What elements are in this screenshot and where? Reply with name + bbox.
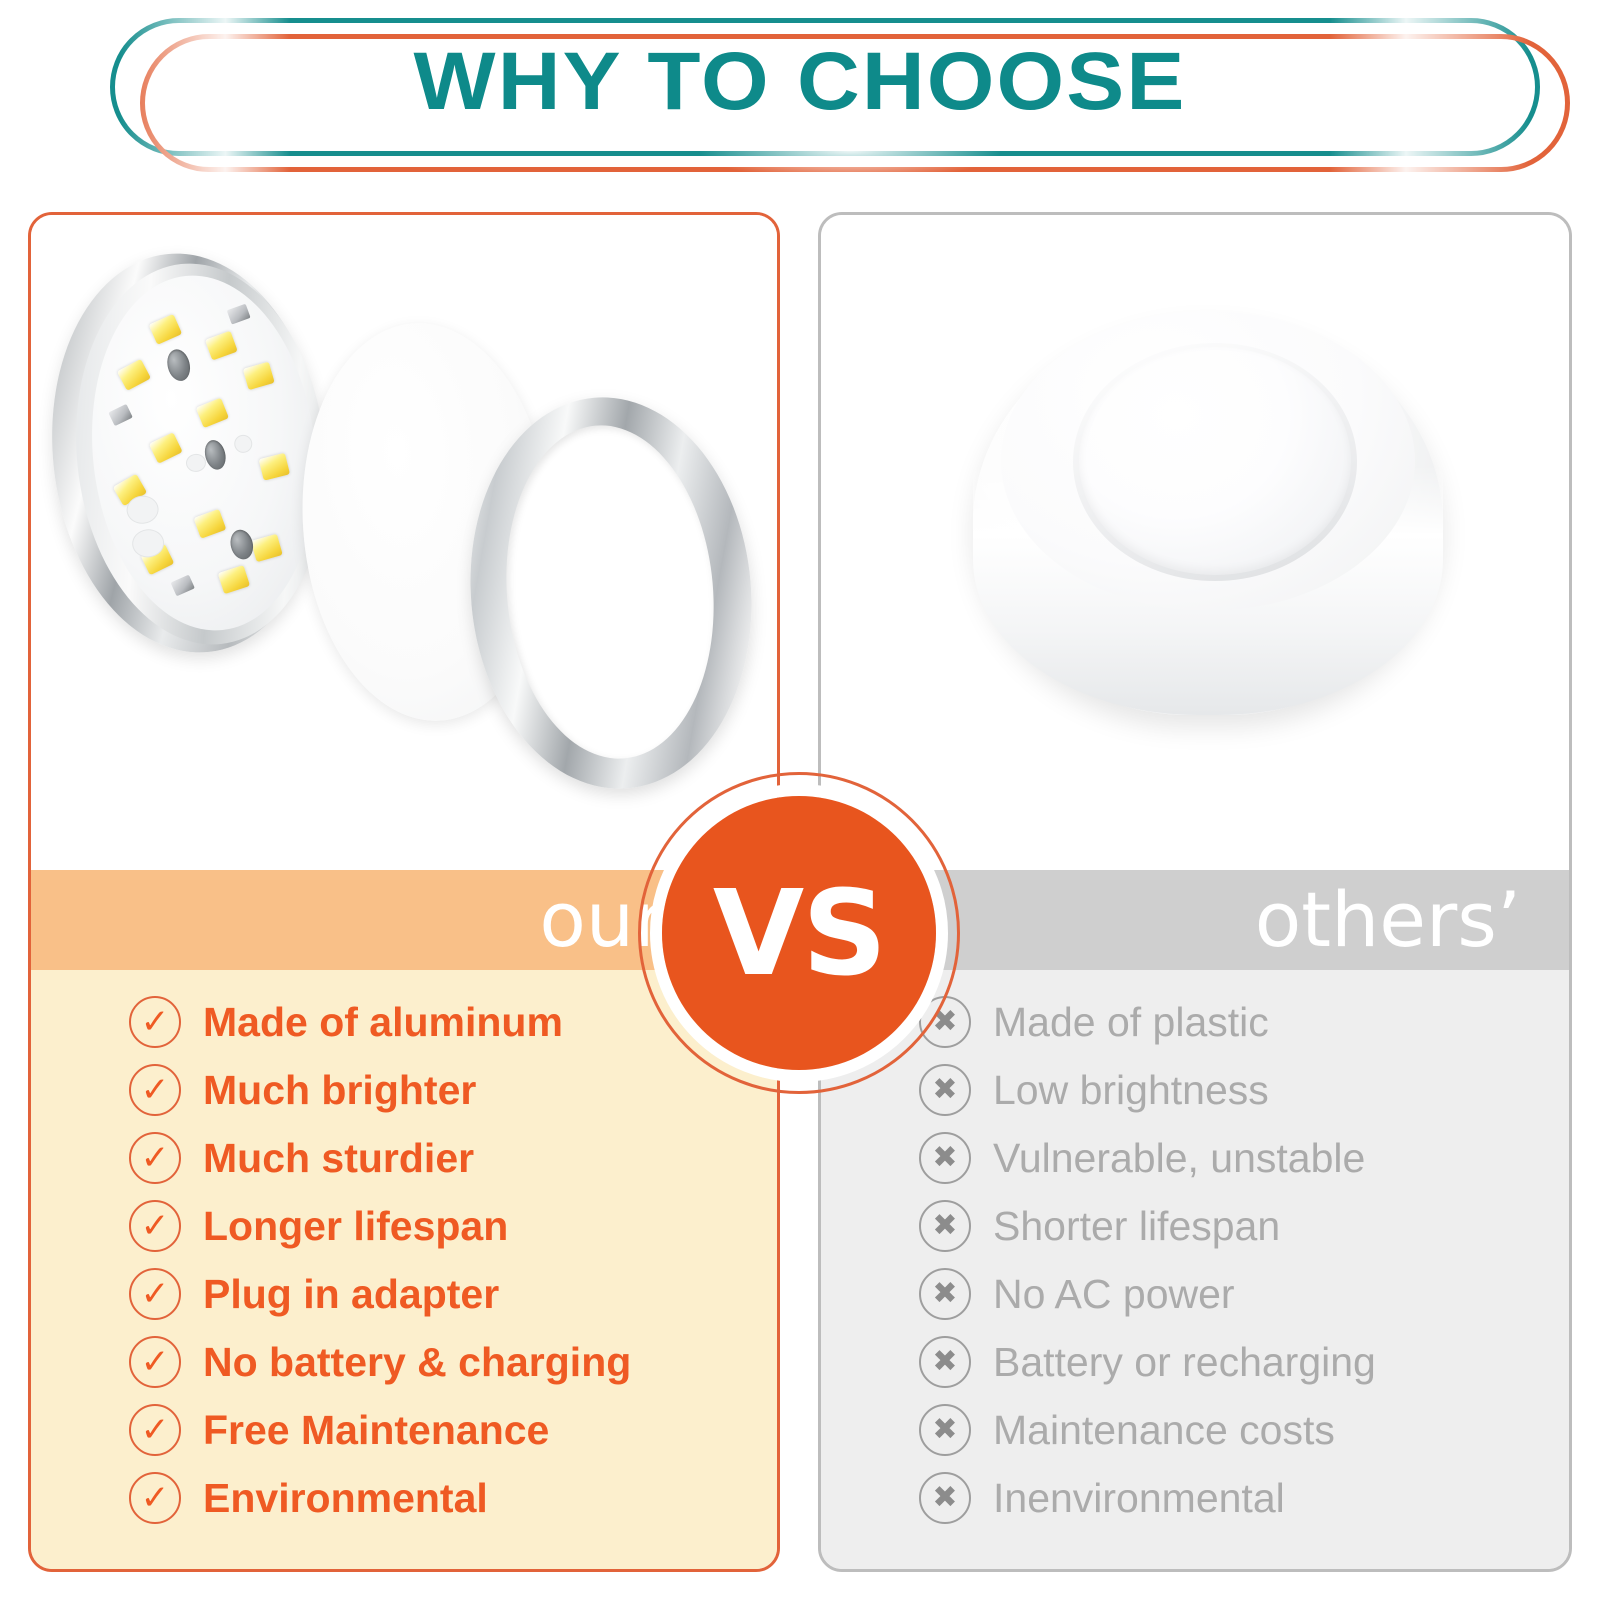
check-icon: ✓ [129, 1472, 181, 1524]
cross-icon: ✖ [919, 1472, 971, 1524]
mount-hole-icon [164, 347, 193, 383]
list-item: ✖ No AC power [919, 1260, 1569, 1328]
cross-icon: ✖ [919, 1200, 971, 1252]
led-chip-icon [117, 359, 151, 391]
list-item: ✓ Free Maintenance [129, 1396, 777, 1464]
feature-label: Made of aluminum [203, 999, 563, 1046]
feature-label: Maintenance costs [993, 1407, 1335, 1454]
led-chip-icon [149, 432, 183, 464]
cross-icon: ✖ [919, 1132, 971, 1184]
check-icon: ✓ [129, 1336, 181, 1388]
check-icon: ✓ [129, 1200, 181, 1252]
feature-label: Longer lifespan [203, 1203, 508, 1250]
check-icon: ✓ [129, 1132, 181, 1184]
led-chip-icon [243, 362, 275, 391]
check-icon: ✓ [129, 1064, 181, 1116]
vs-badge: VS [638, 772, 960, 1094]
vs-label: VS [713, 874, 885, 992]
mount-hole-icon [202, 438, 229, 472]
feature-label: Battery or recharging [993, 1339, 1376, 1386]
led-chip-icon [149, 314, 183, 345]
puck-light-lens [1079, 347, 1351, 575]
mount-hole-icon [227, 527, 256, 561]
feature-label: Shorter lifespan [993, 1203, 1280, 1250]
list-item: ✖ Inenvironmental [919, 1464, 1569, 1532]
list-item: ✓ Much sturdier [129, 1124, 777, 1192]
led-chip-icon [205, 331, 238, 361]
check-icon: ✓ [129, 1404, 181, 1456]
list-item: ✖ Made of plastic [919, 988, 1569, 1056]
feature-label: Free Maintenance [203, 1407, 549, 1454]
feature-label: No AC power [993, 1271, 1235, 1318]
led-chip-icon [218, 565, 250, 594]
feature-label: Low brightness [993, 1067, 1269, 1114]
page-title: WHY TO CHOOSE [0, 26, 1600, 138]
list-item: ✖ Low brightness [919, 1056, 1569, 1124]
list-item: ✖ Shorter lifespan [919, 1192, 1569, 1260]
cross-icon: ✖ [919, 1268, 971, 1320]
solder-pad-icon [185, 453, 207, 473]
list-item: ✓ Plug in adapter [129, 1260, 777, 1328]
others-banner-label: others’ [1255, 868, 1521, 972]
list-item: ✓ No battery & charging [129, 1328, 777, 1396]
resistor-icon [108, 404, 133, 426]
solder-pad-icon [233, 434, 253, 454]
vs-badge-circle: VS [662, 796, 936, 1070]
feature-label: Much sturdier [203, 1135, 474, 1182]
feature-label: Environmental [203, 1475, 488, 1522]
list-item: ✖ Vulnerable, unstable [919, 1124, 1569, 1192]
led-chip-icon [196, 398, 229, 429]
check-icon: ✓ [129, 1268, 181, 1320]
feature-label: Plug in adapter [203, 1271, 499, 1318]
cross-icon: ✖ [919, 1336, 971, 1388]
header-banner: WHY TO CHOOSE [0, 0, 1600, 175]
led-chip-icon [259, 453, 291, 481]
led-chip-icon [251, 534, 283, 563]
feature-label: Much brighter [203, 1067, 476, 1114]
list-item: ✖ Battery or recharging [919, 1328, 1569, 1396]
led-chip-icon [193, 509, 226, 539]
list-item: ✓ Longer lifespan [129, 1192, 777, 1260]
resistor-icon [171, 575, 195, 597]
feature-label: No battery & charging [203, 1339, 631, 1386]
feature-label: Vulnerable, unstable [993, 1135, 1365, 1182]
check-icon: ✓ [129, 996, 181, 1048]
feature-label: Made of plastic [993, 999, 1269, 1046]
resistor-icon [227, 304, 251, 325]
list-item: ✖ Maintenance costs [919, 1396, 1569, 1464]
cross-icon: ✖ [919, 1404, 971, 1456]
feature-label: Inenvironmental [993, 1475, 1285, 1522]
list-item: ✓ Environmental [129, 1464, 777, 1532]
